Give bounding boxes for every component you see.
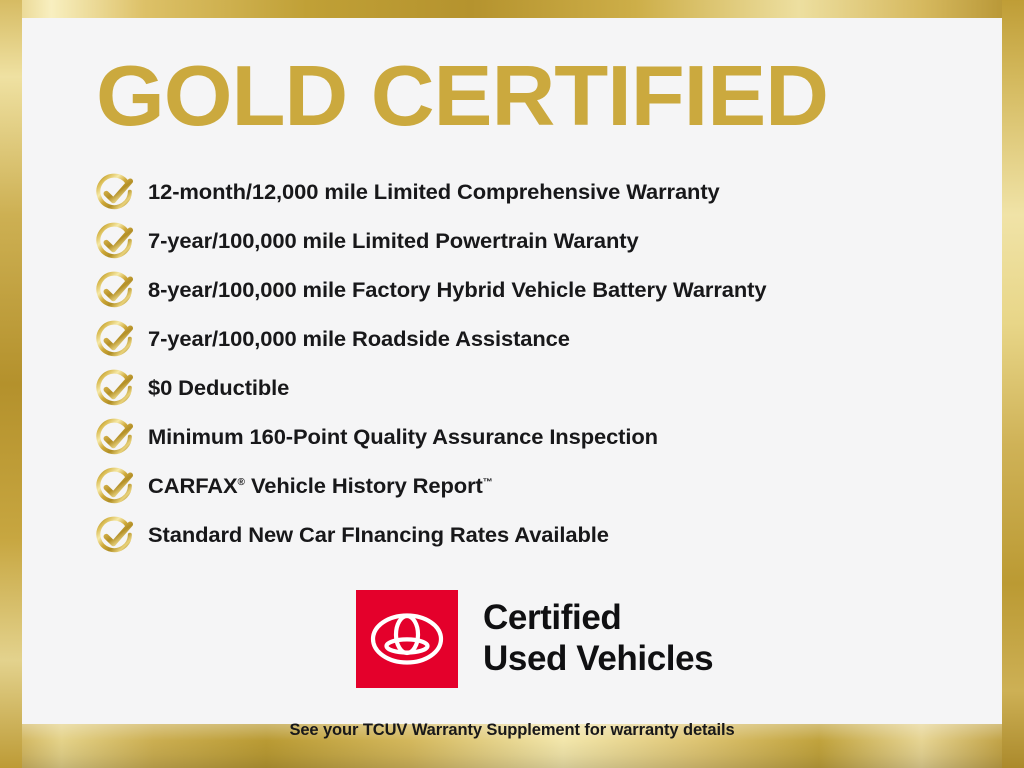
- gold-check-icon: [94, 466, 148, 508]
- toyota-certified-used-vehicles-logo: Certified Used Vehicles: [356, 590, 713, 688]
- benefit-item: 7-year/100,000 mile Limited Powertrain W…: [94, 217, 984, 266]
- benefit-item: Minimum 160-Point Quality Assurance Insp…: [94, 413, 984, 462]
- benefit-item: Standard New Car FInancing Rates Availab…: [94, 511, 984, 560]
- benefit-item: 7-year/100,000 mile Roadside Assistance: [94, 315, 984, 364]
- gold-check-icon: [94, 368, 148, 410]
- benefit-label: 12-month/12,000 mile Limited Comprehensi…: [148, 182, 720, 204]
- page-title: GOLD CERTIFIED: [96, 54, 990, 139]
- benefit-item: 12-month/12,000 mile Limited Comprehensi…: [94, 168, 984, 217]
- gold-check-icon: [94, 172, 148, 214]
- benefit-label: $0 Deductible: [148, 378, 289, 400]
- gold-border-left: [0, 0, 22, 768]
- lockup-line-1: Certified: [483, 598, 713, 639]
- warranty-disclaimer: See your TCUV Warranty Supplement for wa…: [22, 721, 1002, 740]
- gold-border-top: [0, 0, 1024, 18]
- gold-check-icon: [94, 221, 148, 263]
- gold-check-icon: [94, 515, 148, 557]
- gold-check-icon: [94, 270, 148, 312]
- benefit-label: Minimum 160-Point Quality Assurance Insp…: [148, 427, 658, 449]
- benefits-list: 12-month/12,000 mile Limited Comprehensi…: [94, 168, 984, 560]
- benefit-label: CARFAX® Vehicle History Report™: [148, 476, 493, 498]
- benefit-label: Standard New Car FInancing Rates Availab…: [148, 525, 609, 547]
- benefit-label: 8-year/100,000 mile Factory Hybrid Vehic…: [148, 280, 766, 302]
- toyota-emblem-icon: [356, 590, 458, 688]
- benefit-item: 8-year/100,000 mile Factory Hybrid Vehic…: [94, 266, 984, 315]
- gold-border-right: [1002, 0, 1024, 768]
- benefit-item: CARFAX® Vehicle History Report™: [94, 462, 984, 511]
- gold-check-icon: [94, 417, 148, 459]
- lockup-text: Certified Used Vehicles: [483, 590, 713, 688]
- gold-certified-banner: GOLD CERTIFIED 12-month/12,000 mile Limi…: [0, 0, 1024, 768]
- content-card: GOLD CERTIFIED 12-month/12,000 mile Limi…: [22, 18, 1002, 724]
- gold-check-icon: [94, 319, 148, 361]
- benefit-item: $0 Deductible: [94, 364, 984, 413]
- lockup-line-2: Used Vehicles: [483, 639, 713, 680]
- benefit-label: 7-year/100,000 mile Roadside Assistance: [148, 329, 570, 351]
- benefit-label: 7-year/100,000 mile Limited Powertrain W…: [148, 231, 639, 253]
